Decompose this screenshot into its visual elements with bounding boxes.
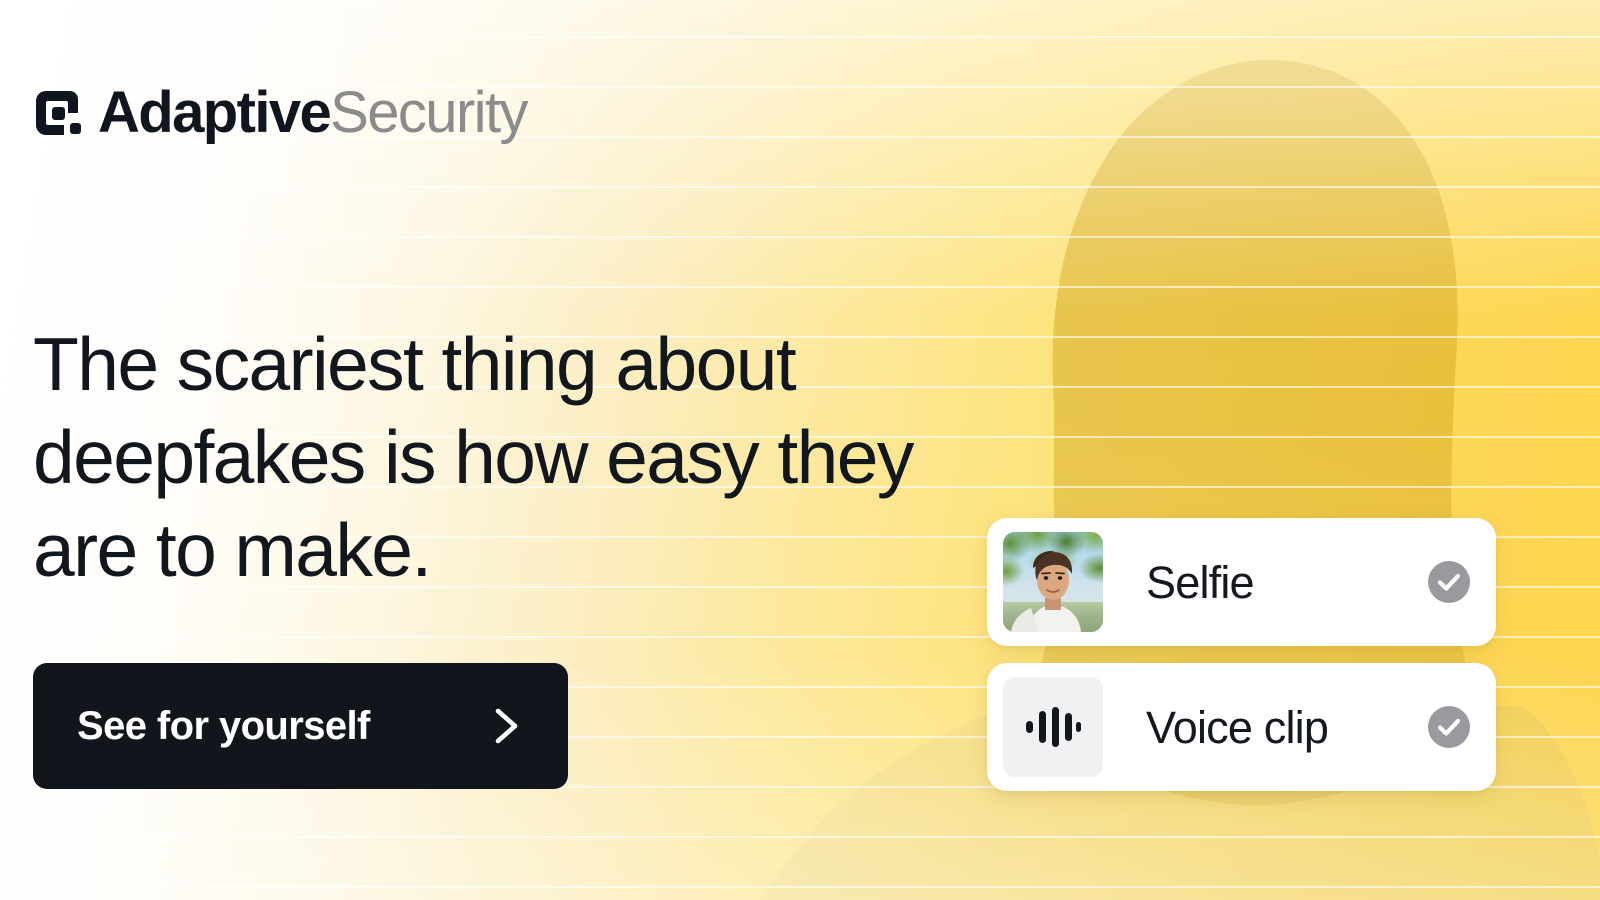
cta-label: See for yourself xyxy=(77,704,370,749)
check-circle-icon xyxy=(1428,561,1470,603)
hero-headline: The scariest thing about deepfakes is ho… xyxy=(33,318,963,597)
scan-line xyxy=(0,236,1600,238)
chevron-right-icon xyxy=(490,706,524,746)
scan-line xyxy=(0,286,1600,288)
scan-line xyxy=(0,186,1600,188)
scan-line xyxy=(0,36,1600,38)
media-cards-list: Selfie Voice clip xyxy=(987,518,1496,791)
card-selfie[interactable]: Selfie xyxy=(987,518,1496,646)
hero-banner: AdaptiveSecurity The scariest thing abou… xyxy=(0,0,1600,900)
brand-logo[interactable]: AdaptiveSecurity xyxy=(32,84,527,142)
scan-line xyxy=(0,886,1600,888)
audio-waveform-icon xyxy=(1024,703,1082,751)
voice-clip-thumbnail xyxy=(1003,677,1103,777)
card-label-selfie: Selfie xyxy=(1146,560,1428,605)
check-circle-icon xyxy=(1428,706,1470,748)
card-voice-clip[interactable]: Voice clip xyxy=(987,663,1496,791)
scan-line xyxy=(0,836,1600,838)
selfie-thumbnail xyxy=(1003,532,1103,632)
see-for-yourself-button[interactable]: See for yourself xyxy=(33,663,568,789)
brand-wordmark: AdaptiveSecurity xyxy=(98,84,527,142)
adaptive-logo-mark xyxy=(32,87,84,139)
brand-name-primary: Adaptive xyxy=(98,80,330,145)
photo-person-figure xyxy=(1003,532,1103,632)
card-label-voice-clip: Voice clip xyxy=(1146,705,1428,750)
brand-name-secondary: Security xyxy=(330,80,527,145)
